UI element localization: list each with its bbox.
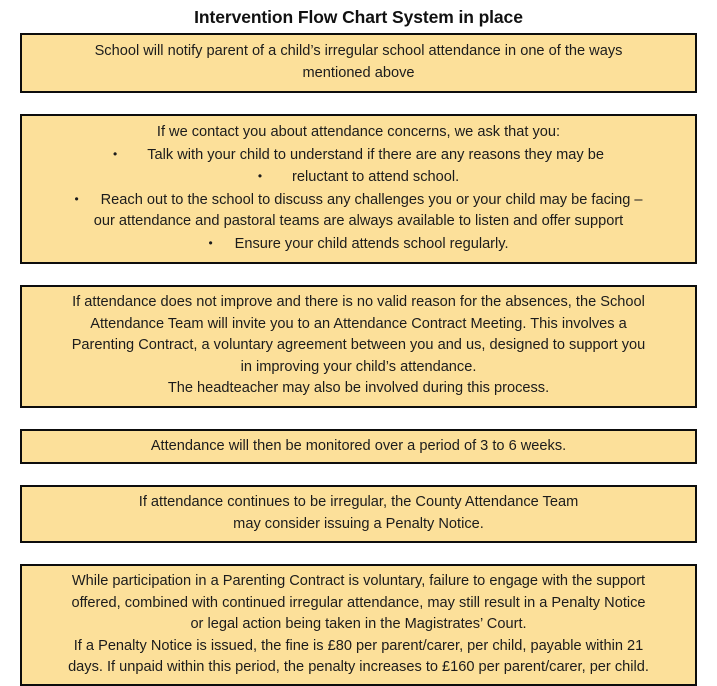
flow-box-line: Parenting Contract, a voluntary agreemen… <box>29 335 688 357</box>
flow-box-bullet-item: •Talk with your child to understand if t… <box>29 144 688 167</box>
flow-box-line: If attendance continues to be irregular,… <box>29 492 688 514</box>
flow-box-line: mentioned above <box>29 63 688 85</box>
flow-box-notify-parent: School will notify parent of a child’s i… <box>20 33 697 93</box>
flow-box-line: Attendance will then be monitored over a… <box>29 436 688 458</box>
flow-box-line: The headteacher may also be involved dur… <box>29 378 688 400</box>
flow-chart-page: Intervention Flow Chart System in place … <box>0 0 717 647</box>
flow-box-line: in improving your child’s attendance. <box>29 357 688 379</box>
flow-box-attendance-contract-meeting: If attendance does not improve and there… <box>20 285 697 408</box>
flow-box-line: If attendance does not improve and there… <box>29 292 688 314</box>
flow-box-line: may consider issuing a Penalty Notice. <box>29 514 688 536</box>
flow-box-bullet-text: Ensure your child attends school regular… <box>235 236 509 252</box>
flow-box-line: Attendance Team will invite you to an At… <box>29 314 688 336</box>
flow-box-bullet-text: Reach out to the school to discuss any c… <box>101 192 643 208</box>
flow-box-line: While participation in a Parenting Contr… <box>29 571 688 593</box>
bullet-icon: • <box>113 144 117 166</box>
flow-box-penalty-notice-detail: While participation in a Parenting Contr… <box>20 564 697 686</box>
flow-box-what-we-ask: If we contact you about attendance conce… <box>20 114 697 264</box>
flow-box-monitoring-period: Attendance will then be monitored over a… <box>20 429 697 465</box>
flow-box-line: offered, combined with continued irregul… <box>29 593 688 615</box>
flow-box-county-attendance-team: If attendance continues to be irregular,… <box>20 485 697 543</box>
flow-box-bullet-continuation: our attendance and pastoral teams are al… <box>29 211 688 233</box>
flow-chart-container: School will notify parent of a child’s i… <box>20 33 697 686</box>
flow-box-line: If a Penalty Notice is issued, the fine … <box>29 636 688 658</box>
flow-box-line: School will notify parent of a child’s i… <box>29 41 688 63</box>
flow-box-line: If we contact you about attendance conce… <box>29 122 688 144</box>
flow-box-bullet-text: Talk with your child to understand if th… <box>147 147 604 163</box>
bullet-icon: • <box>208 233 212 255</box>
flow-box-bullet-item: •reluctant to attend school. <box>29 166 688 189</box>
flow-box-bullet-text: reluctant to attend school. <box>292 169 459 185</box>
flow-box-bullet-item: •Reach out to the school to discuss any … <box>29 189 688 212</box>
flow-box-line: days. If unpaid within this period, the … <box>29 657 688 679</box>
bullet-icon: • <box>258 166 262 188</box>
bullet-icon: • <box>74 189 78 211</box>
flow-box-bullet-item: •Ensure your child attends school regula… <box>29 233 688 256</box>
flow-box-line: or legal action being taken in the Magis… <box>29 614 688 636</box>
page-title: Intervention Flow Chart System in place <box>0 0 717 33</box>
